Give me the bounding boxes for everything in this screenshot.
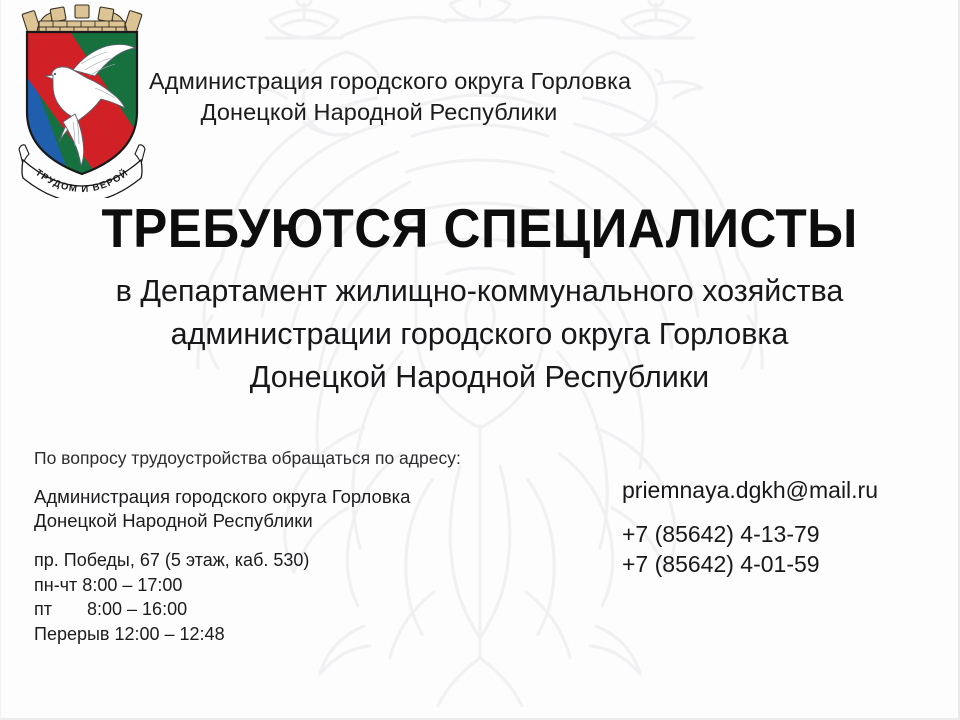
administration-header: Администрация городского округа Горловка… xyxy=(149,66,609,128)
header-line-2: Донецкой Народной Республики xyxy=(149,97,609,128)
mural-crown xyxy=(22,5,142,35)
hours-mon-thu: пн-чт 8:00 – 17:00 xyxy=(34,573,461,598)
contact-phone-2[interactable]: +7 (85642) 4-01-59 xyxy=(622,549,878,579)
contact-phone-1[interactable]: +7 (85642) 4-13-79 xyxy=(622,519,878,549)
header-line-1: Администрация городского округа Горловка xyxy=(149,66,609,97)
spacer xyxy=(34,533,461,548)
contact-street-address: пр. Победы, 67 (5 этаж, каб. 530) xyxy=(34,548,461,573)
contact-email[interactable]: priemnaya.dgkh@mail.ru xyxy=(622,476,878,505)
contact-org-line-1: Администрация городского округа Горловка xyxy=(34,485,461,509)
contact-intro: По вопросу трудоустройства обращаться по… xyxy=(34,447,461,469)
page-title: ТРЕБУЮТСЯ СПЕЦИАЛИСТЫ xyxy=(1,198,958,258)
job-vacancy-poster: ТРУДОМ И ВЕРОЙ Администрация городского … xyxy=(0,0,960,720)
subtitle-line-1: в Департамент жилищно-коммунального хозя… xyxy=(1,270,958,313)
contact-details-block: priemnaya.dgkh@mail.ru +7 (85642) 4-13-7… xyxy=(622,476,878,579)
hours-friday: пт 8:00 – 16:00 xyxy=(34,597,461,622)
department-subtitle: в Департамент жилищно-коммунального хозя… xyxy=(1,270,958,399)
coat-of-arms-gorlovka: ТРУДОМ И ВЕРОЙ xyxy=(9,2,155,198)
page-title-text: ТРЕБУЮТСЯ СПЕЦИАЛИСТЫ xyxy=(101,198,857,258)
subtitle-line-3: Донецкой Народной Республики xyxy=(1,356,958,399)
lunch-break: Перерыв 12:00 – 12:48 xyxy=(34,622,461,647)
contact-org-line-2: Донецкой Народной Республики xyxy=(34,509,461,533)
contact-address-block: По вопросу трудоустройства обращаться по… xyxy=(34,447,461,646)
subtitle-line-2: администрации городского округа Горловка xyxy=(1,313,958,356)
